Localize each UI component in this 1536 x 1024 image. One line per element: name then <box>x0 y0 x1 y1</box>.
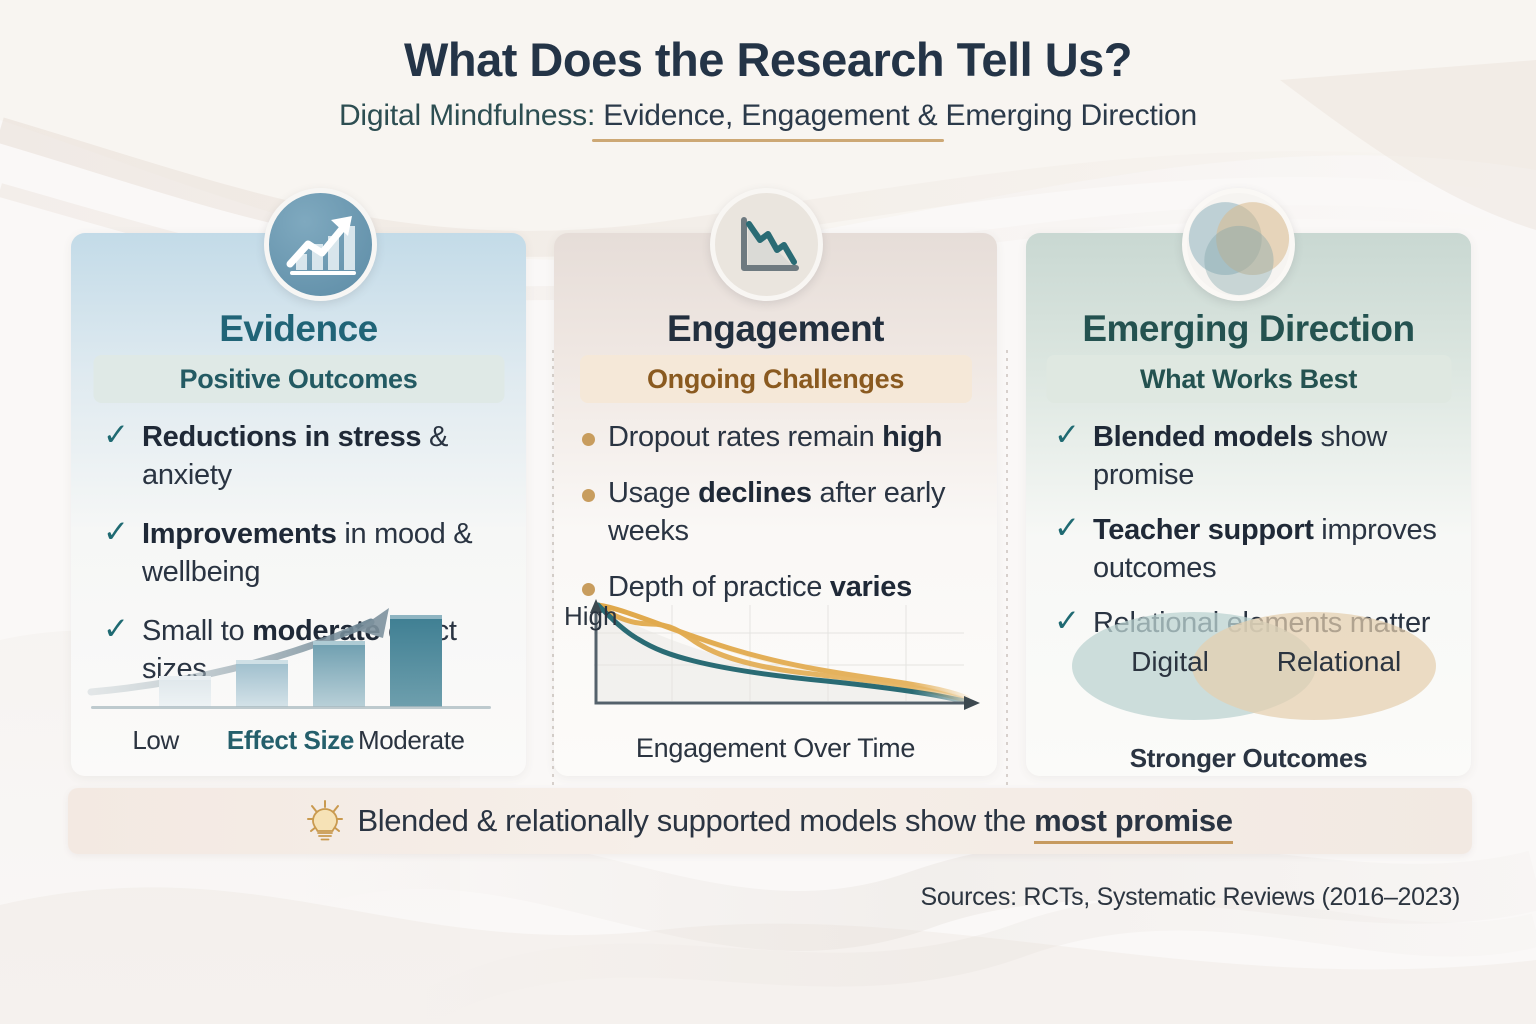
evidence-title: Evidence <box>71 308 526 350</box>
bullet-bold: declines <box>698 477 812 509</box>
engagement-line-chart: ​ High Engagement Over Time <box>554 591 997 766</box>
sources-note: Sources: RCTs, Systematic Reviews (2016–… <box>920 883 1460 912</box>
venn-circles-icon <box>1187 188 1290 301</box>
bullet-lead: Usage <box>608 477 698 509</box>
columns-container: Evidence Positive Outcomes ✓ Reductions … <box>71 233 1471 788</box>
bullet-text: Teacher support improves outcomes <box>1093 512 1459 588</box>
evidence-pill: Positive Outcomes <box>93 355 504 403</box>
header-divider-rule <box>592 139 944 142</box>
bullet-dot-icon <box>582 489 595 502</box>
venn-right-label: Relational <box>1264 646 1414 678</box>
venn-caption: Stronger Outcomes <box>1026 743 1471 774</box>
bullet-text: Usage declines after early weeks <box>608 475 987 551</box>
list-item: ✓ Teacher support improves outcomes <box>1054 512 1459 588</box>
check-icon: ✓ <box>1054 419 1080 450</box>
list-item: ✓ Reductions in stress & anxiety <box>103 419 508 495</box>
bar-chart-svg <box>71 600 526 725</box>
engagement-pill: Ongoing Challenges <box>580 355 972 403</box>
bullet-dot-icon <box>582 433 595 446</box>
emerging-icon-badge <box>1182 188 1295 301</box>
line-chart-svg: ​ <box>554 591 997 721</box>
page-subtitle: Digital Mindfulness: Evidence, Engagemen… <box>0 99 1536 133</box>
list-item: ✓ Blended models show promise <box>1054 419 1459 495</box>
summary-banner: Blended & relationally supported models … <box>68 788 1472 854</box>
card-engagement[interactable]: Engagement Ongoing Challenges Dropout ra… <box>554 233 997 776</box>
bullet-bold: Blended models <box>1093 421 1313 453</box>
rising-bar-chart-arrow-icon <box>282 210 360 280</box>
bullet-bold: Improvements <box>142 518 337 550</box>
engagement-icon-badge <box>710 188 823 301</box>
banner-lead: Blended & relationally supported models … <box>357 803 1034 838</box>
bullet-lead: Dropout rates remain <box>608 421 882 453</box>
page-title: What Does the Research Tell Us? <box>0 34 1536 86</box>
bullet-bold: high <box>882 421 942 453</box>
label-low: Low <box>132 725 179 755</box>
lightbulb-icon <box>307 800 343 842</box>
check-icon: ✓ <box>103 516 129 547</box>
banner-text: Blended & relationally supported models … <box>357 803 1232 839</box>
declining-line-chart-icon <box>730 210 804 280</box>
y-axis-label: High <box>564 601 617 632</box>
label-effect-size: Effect Size <box>227 725 354 755</box>
banner-emphasis: most promise <box>1034 803 1232 844</box>
bullet-text: Improvements in mood & wellbeing <box>142 516 508 592</box>
effect-size-bar-chart: LowEffect SizeModerate <box>71 600 526 776</box>
list-item: ✓ Improvements in mood & wellbeing <box>103 516 508 592</box>
venn-diagram: ​ Digital Relational Stronger Outcomes <box>1026 608 1471 768</box>
subtitle-rest: Evidence, Engagement & Emerging Directio… <box>595 99 1197 132</box>
effect-size-labels: LowEffect SizeModerate <box>71 725 526 756</box>
venn-left-label: Digital <box>1110 646 1230 678</box>
engagement-title: Engagement <box>554 308 997 350</box>
x-axis-label: Engagement Over Time <box>554 733 997 764</box>
emerging-title: Emerging Direction <box>1026 308 1471 350</box>
check-icon: ✓ <box>103 419 129 450</box>
bullet-bold: Teacher support <box>1093 514 1314 546</box>
emerging-pill: What Works Best <box>1046 355 1451 403</box>
evidence-icon-badge <box>264 188 377 301</box>
bullet-text: Blended models show promise <box>1093 419 1459 495</box>
bullet-bold: Reductions in stress <box>142 421 421 453</box>
card-evidence[interactable]: Evidence Positive Outcomes ✓ Reductions … <box>71 233 526 776</box>
card-emerging-direction[interactable]: Emerging Direction What Works Best ✓ Ble… <box>1026 233 1471 776</box>
bullet-text: Reductions in stress & anxiety <box>142 419 508 495</box>
bullet-text: Dropout rates remain high <box>608 419 942 457</box>
list-item: Dropout rates remain high <box>582 419 987 457</box>
page-header: What Does the Research Tell Us? Digital … <box>0 34 1536 133</box>
list-item: Usage declines after early weeks <box>582 475 987 551</box>
label-moderate: Moderate <box>358 725 465 755</box>
subtitle-accent: Digital Mindfulness: <box>339 99 595 132</box>
check-icon: ✓ <box>1054 512 1080 543</box>
